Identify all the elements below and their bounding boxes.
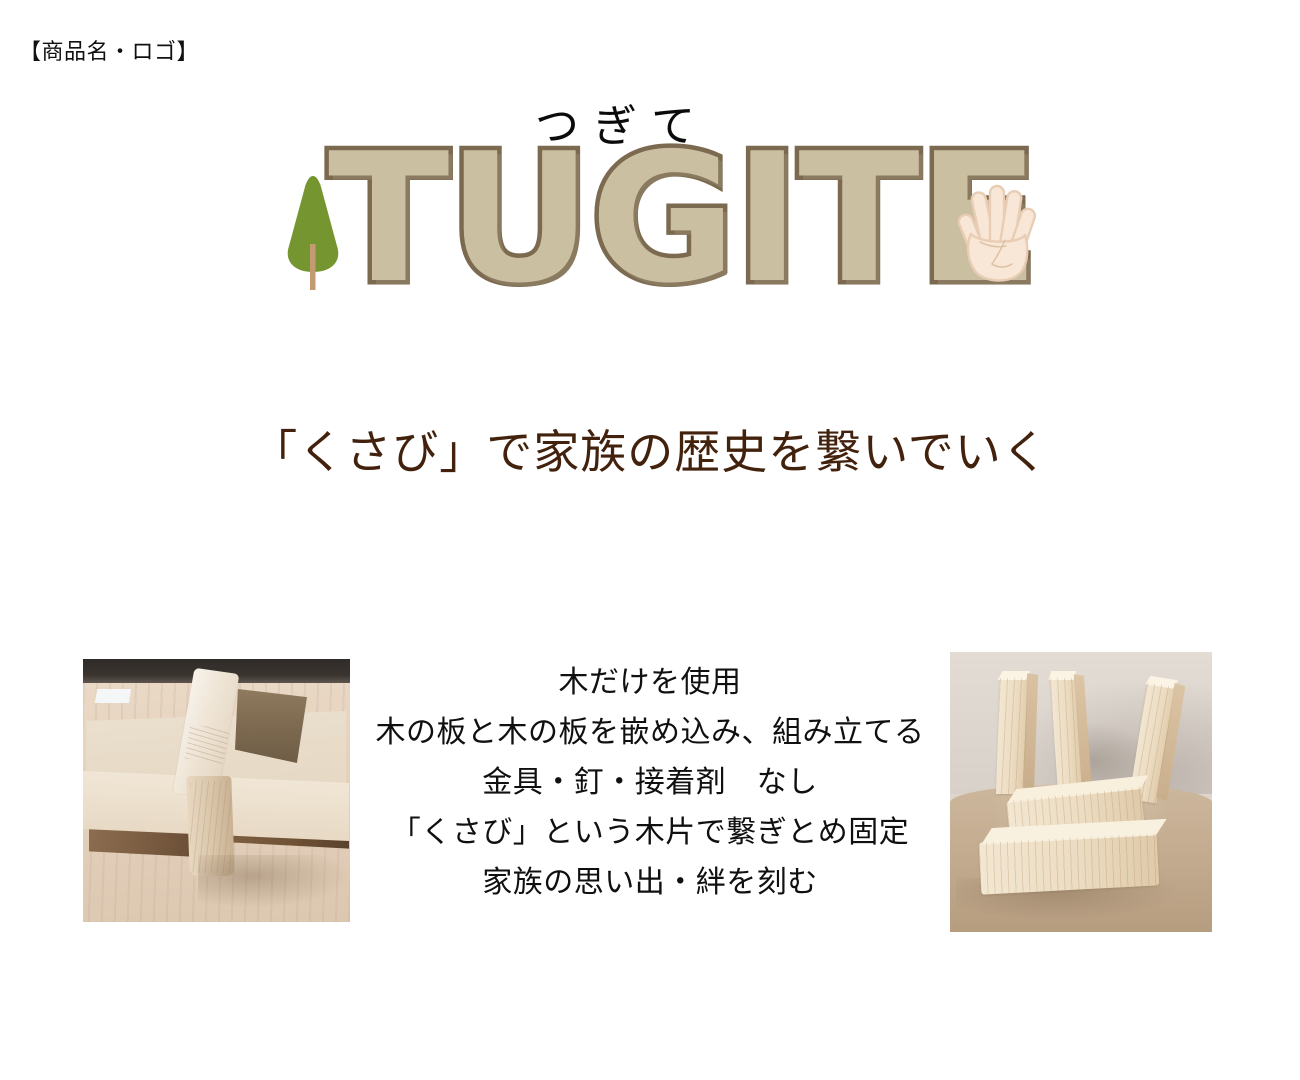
feature-line: 金具・釘・接着剤 なし <box>350 758 950 808</box>
wedge-block <box>996 678 1028 794</box>
wedge-grain <box>979 833 1159 894</box>
logo-lockup: つぎて TUGITE <box>280 100 1050 300</box>
feature-line: 木だけを使用 <box>350 658 950 708</box>
open-hand-icon <box>958 178 1036 290</box>
photo-white-chip <box>95 689 131 703</box>
wedge-block <box>979 833 1159 894</box>
feature-line: 家族の思い出・絆を刻む <box>350 858 950 908</box>
feature-line: 「くさび」という木片で繋ぎとめ固定 <box>350 808 950 858</box>
feature-copy-block: 木だけを使用 木の板と木の板を嵌め込み、組み立てる 金具・釘・接着剤 なし 「く… <box>350 658 950 908</box>
product-photo-wedges <box>950 652 1212 932</box>
photo-rail-grain <box>184 724 229 764</box>
photo-cast-shadow <box>198 855 348 907</box>
slide-label: 【商品名・ロゴ】 <box>19 38 199 67</box>
wedge-grain <box>996 678 1028 794</box>
logo-wordmark: TUGITE <box>328 144 1037 294</box>
tagline: 「くさび」で家族の歴史を繋いでいく <box>0 424 1300 482</box>
photo-dark-wedge <box>235 689 307 763</box>
product-photo-joinery <box>83 659 350 922</box>
feature-line: 木の板と木の板を嵌め込み、組み立てる <box>350 708 950 758</box>
